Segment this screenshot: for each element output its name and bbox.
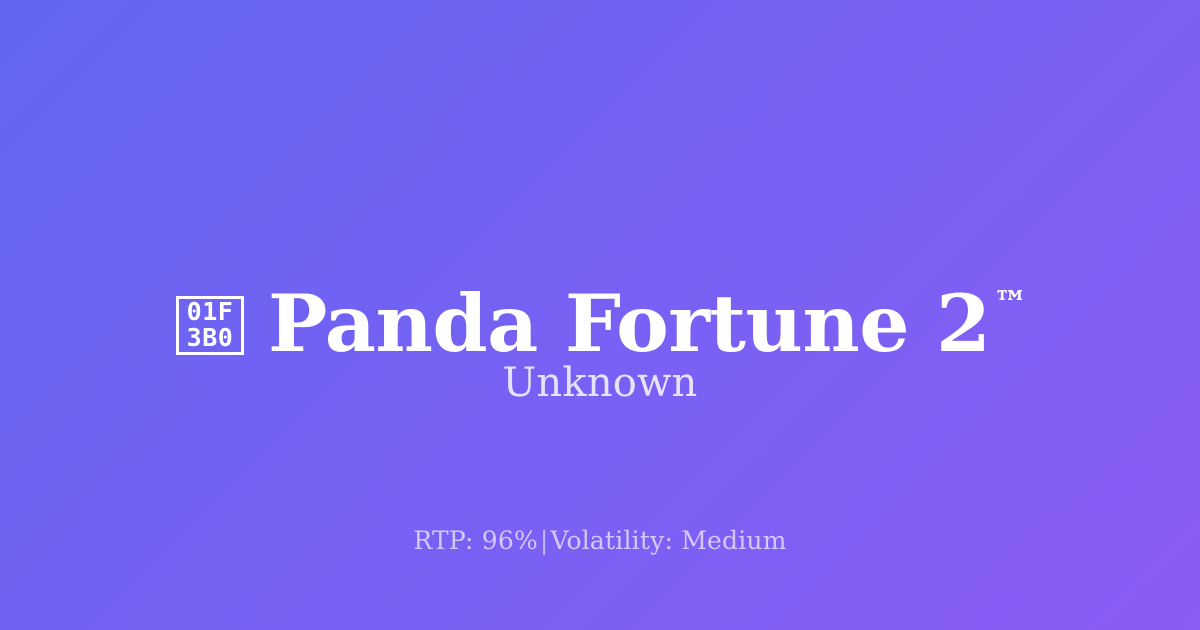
slot-machine-tofu-icon: 01F 3B0 bbox=[176, 296, 244, 355]
meta-separator: | bbox=[538, 526, 551, 555]
tofu-codepoint-top: 01F bbox=[187, 299, 234, 325]
trademark-symbol: ™ bbox=[994, 287, 1028, 321]
provider-subtitle: Unknown bbox=[0, 363, 1200, 403]
game-meta-footer: RTP: 96%|Volatility: Medium bbox=[0, 528, 1200, 553]
volatility-value: Volatility: Medium bbox=[551, 526, 787, 555]
page-title: Panda Fortune 2 ™ bbox=[268, 284, 1024, 363]
tofu-codepoint-bottom: 3B0 bbox=[187, 325, 234, 351]
game-title-text: Panda Fortune 2 bbox=[268, 284, 991, 363]
og-share-card: 01F 3B0 Panda Fortune 2 ™ Unknown RTP: 9… bbox=[0, 0, 1200, 630]
rtp-value: RTP: 96% bbox=[413, 526, 538, 555]
